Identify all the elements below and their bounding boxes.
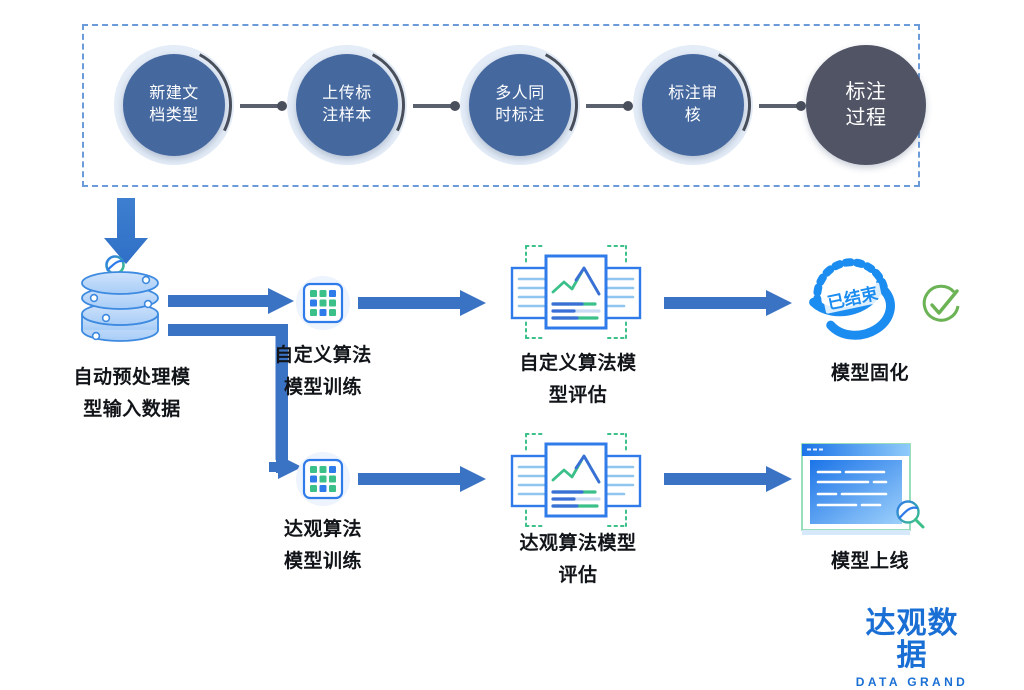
arrow-custom-train-to-eval	[358, 290, 486, 316]
brand-logo: 达观数据 DATA GRAND	[852, 608, 972, 690]
step-disc: 多人同 时标注	[469, 54, 571, 156]
algorithm-grid-icon[interactable]	[296, 276, 350, 330]
finished-seal-icon[interactable]: 已结束	[800, 258, 906, 342]
check-circle-icon	[918, 283, 964, 329]
step-disc: 标注审 核	[642, 54, 744, 156]
annotation-step-5[interactable]: 标注 过程	[806, 45, 926, 165]
connector-4	[759, 104, 801, 108]
step-disc: 上传标 注样本	[296, 54, 398, 156]
annotation-step-2[interactable]: 上传标 注样本	[287, 45, 407, 165]
custom-eval-caption: 自定义算法模 型评估	[500, 348, 656, 412]
algorithm-grid-icon[interactable]	[296, 452, 350, 506]
custom-train-caption: 自定义算法 模型训练	[248, 340, 398, 404]
annotation-step-4[interactable]: 标注审 核	[633, 45, 753, 165]
annotation-step-1[interactable]: 新建文 档类型	[114, 45, 234, 165]
brand-logo-zh: 达观数据	[852, 608, 972, 672]
datagrand-eval-caption: 达观算法模型 评估	[500, 528, 656, 592]
connector-dot	[450, 101, 460, 111]
annotation-step-5-label: 标注 过程	[846, 79, 887, 131]
annotation-step-2-label: 上传标 注样本	[322, 83, 372, 127]
annotation-steps-row: 新建文 档类型 上传标 注样本 多人同 时标注 标注审 核	[82, 24, 920, 187]
arrow-datagrand-train-to-eval	[358, 466, 486, 492]
document-chart-icon[interactable]	[496, 430, 656, 530]
arrow-source-to-custom-train	[168, 288, 294, 314]
database-search-icon[interactable]	[74, 252, 166, 344]
connector-dot	[277, 101, 287, 111]
datagrand-result-caption: 模型上线	[790, 546, 950, 578]
annotation-step-3[interactable]: 多人同 时标注	[460, 45, 580, 165]
annotation-step-3-label: 多人同 时标注	[495, 83, 545, 127]
arrow-custom-eval-to-result	[664, 290, 792, 316]
document-chart-icon[interactable]	[496, 242, 656, 342]
connector-1	[240, 104, 282, 108]
connector-dot	[623, 101, 633, 111]
connector-2	[413, 104, 455, 108]
annotation-step-4-label: 标注审 核	[668, 83, 718, 127]
custom-result-caption: 模型固化	[790, 358, 950, 390]
browser-window-icon[interactable]	[798, 440, 934, 550]
arrow-datagrand-eval-to-result	[664, 466, 792, 492]
connector-dot	[796, 101, 806, 111]
annotation-step-1-label: 新建文 档类型	[149, 83, 199, 127]
step-disc: 新建文 档类型	[123, 54, 225, 156]
connector-3	[586, 104, 628, 108]
step-disc: 标注 过程	[806, 45, 926, 165]
brand-logo-en: DATA GRAND	[852, 674, 972, 690]
datagrand-train-caption: 达观算法 模型训练	[248, 514, 398, 578]
diagram-canvas: 新建文 档类型 上传标 注样本 多人同 时标注 标注审 核	[0, 0, 1024, 674]
